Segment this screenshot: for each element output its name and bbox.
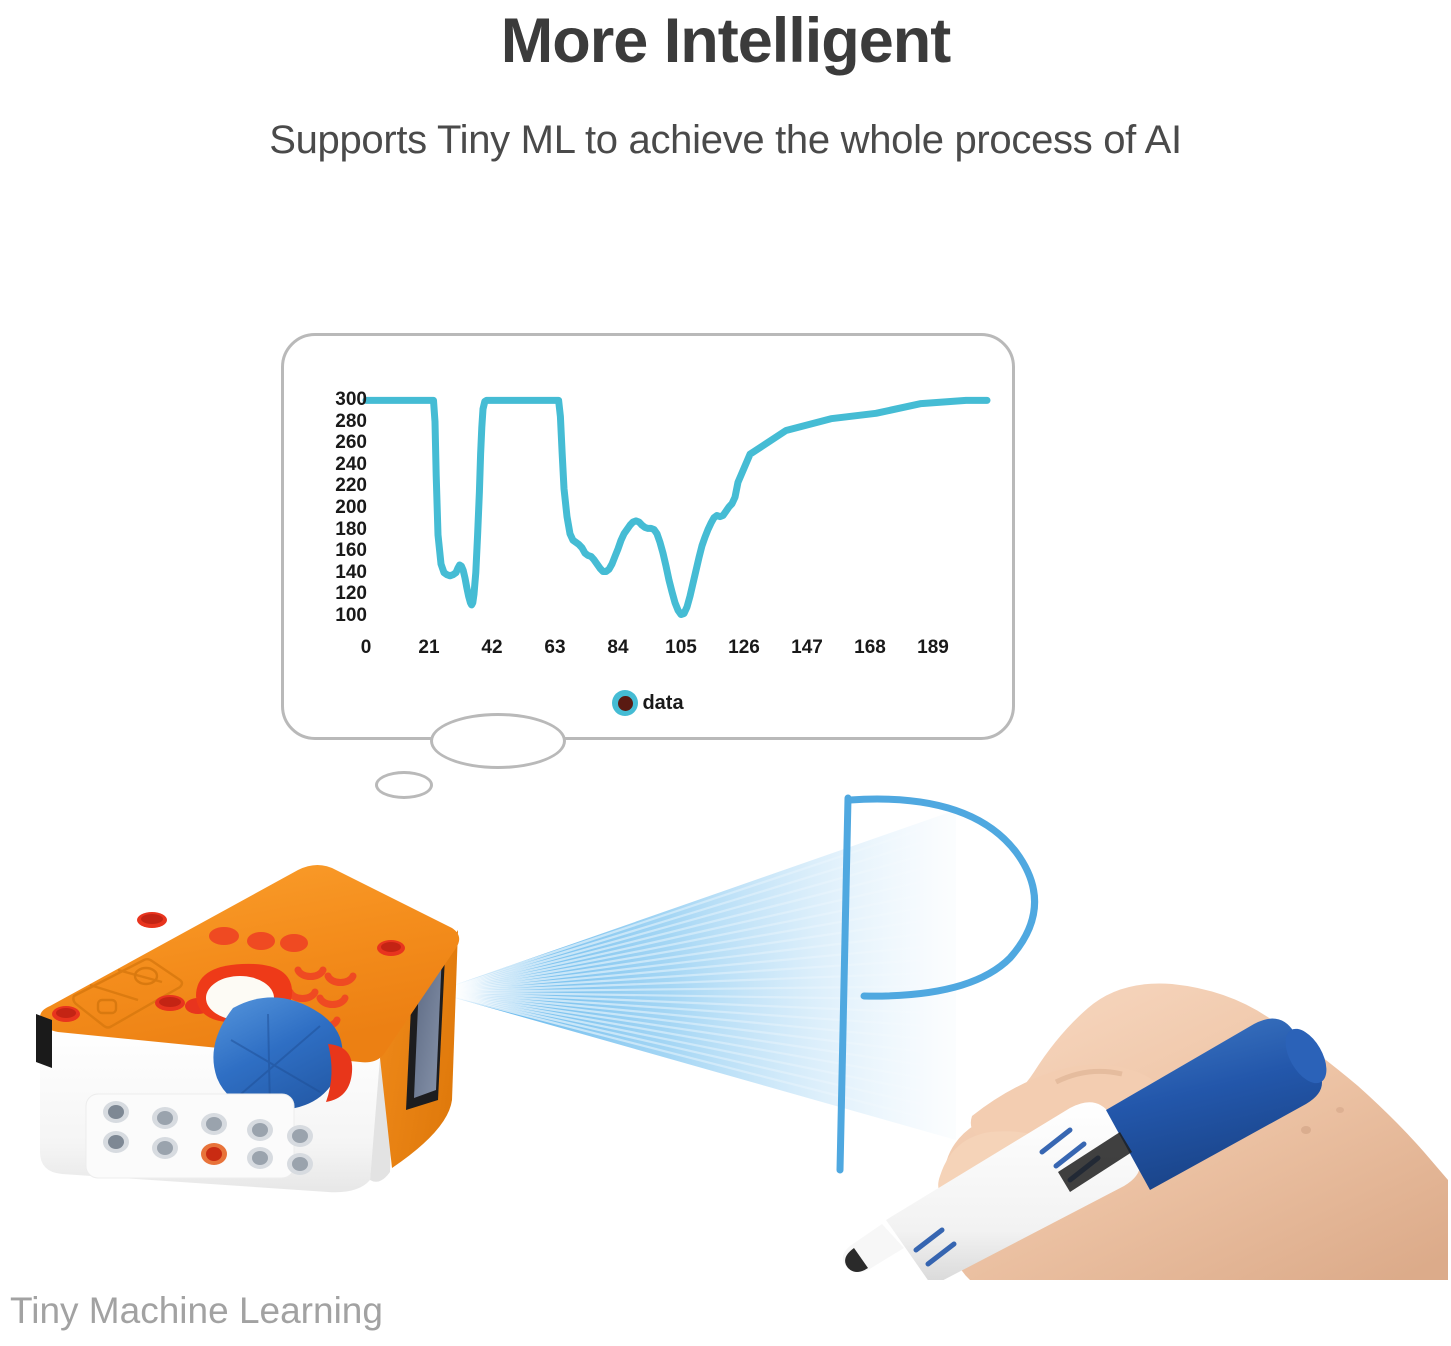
x-axis-tick-126: 126 xyxy=(714,638,774,657)
legend-label: data xyxy=(642,692,683,715)
hand-drawing-area xyxy=(820,780,1451,1280)
chart-x-axis: 021426384105126147168189 xyxy=(281,333,1015,740)
legend-marker-icon xyxy=(612,690,638,716)
x-axis-tick-0: 0 xyxy=(336,638,396,657)
scene-caption: Tiny Machine Learning xyxy=(10,1290,383,1332)
x-axis-tick-168: 168 xyxy=(840,638,900,657)
x-axis-tick-21: 21 xyxy=(399,638,459,657)
x-axis-tick-84: 84 xyxy=(588,638,648,657)
x-axis-tick-105: 105 xyxy=(651,638,711,657)
x-axis-tick-42: 42 xyxy=(462,638,522,657)
x-axis-tick-147: 147 xyxy=(777,638,837,657)
x-axis-tick-189: 189 xyxy=(903,638,963,657)
tiny-ml-device xyxy=(28,800,468,1200)
page-title: More Intelligent xyxy=(0,8,1451,74)
chart-legend: data xyxy=(281,690,1015,716)
x-axis-tick-63: 63 xyxy=(525,638,585,657)
product-photo-scene xyxy=(0,780,1451,1346)
page-subtitle: Supports Tiny ML to achieve the whole pr… xyxy=(0,118,1451,163)
sensor-data-chart: 300280260240220200180160140120100 021426… xyxy=(281,333,1015,740)
